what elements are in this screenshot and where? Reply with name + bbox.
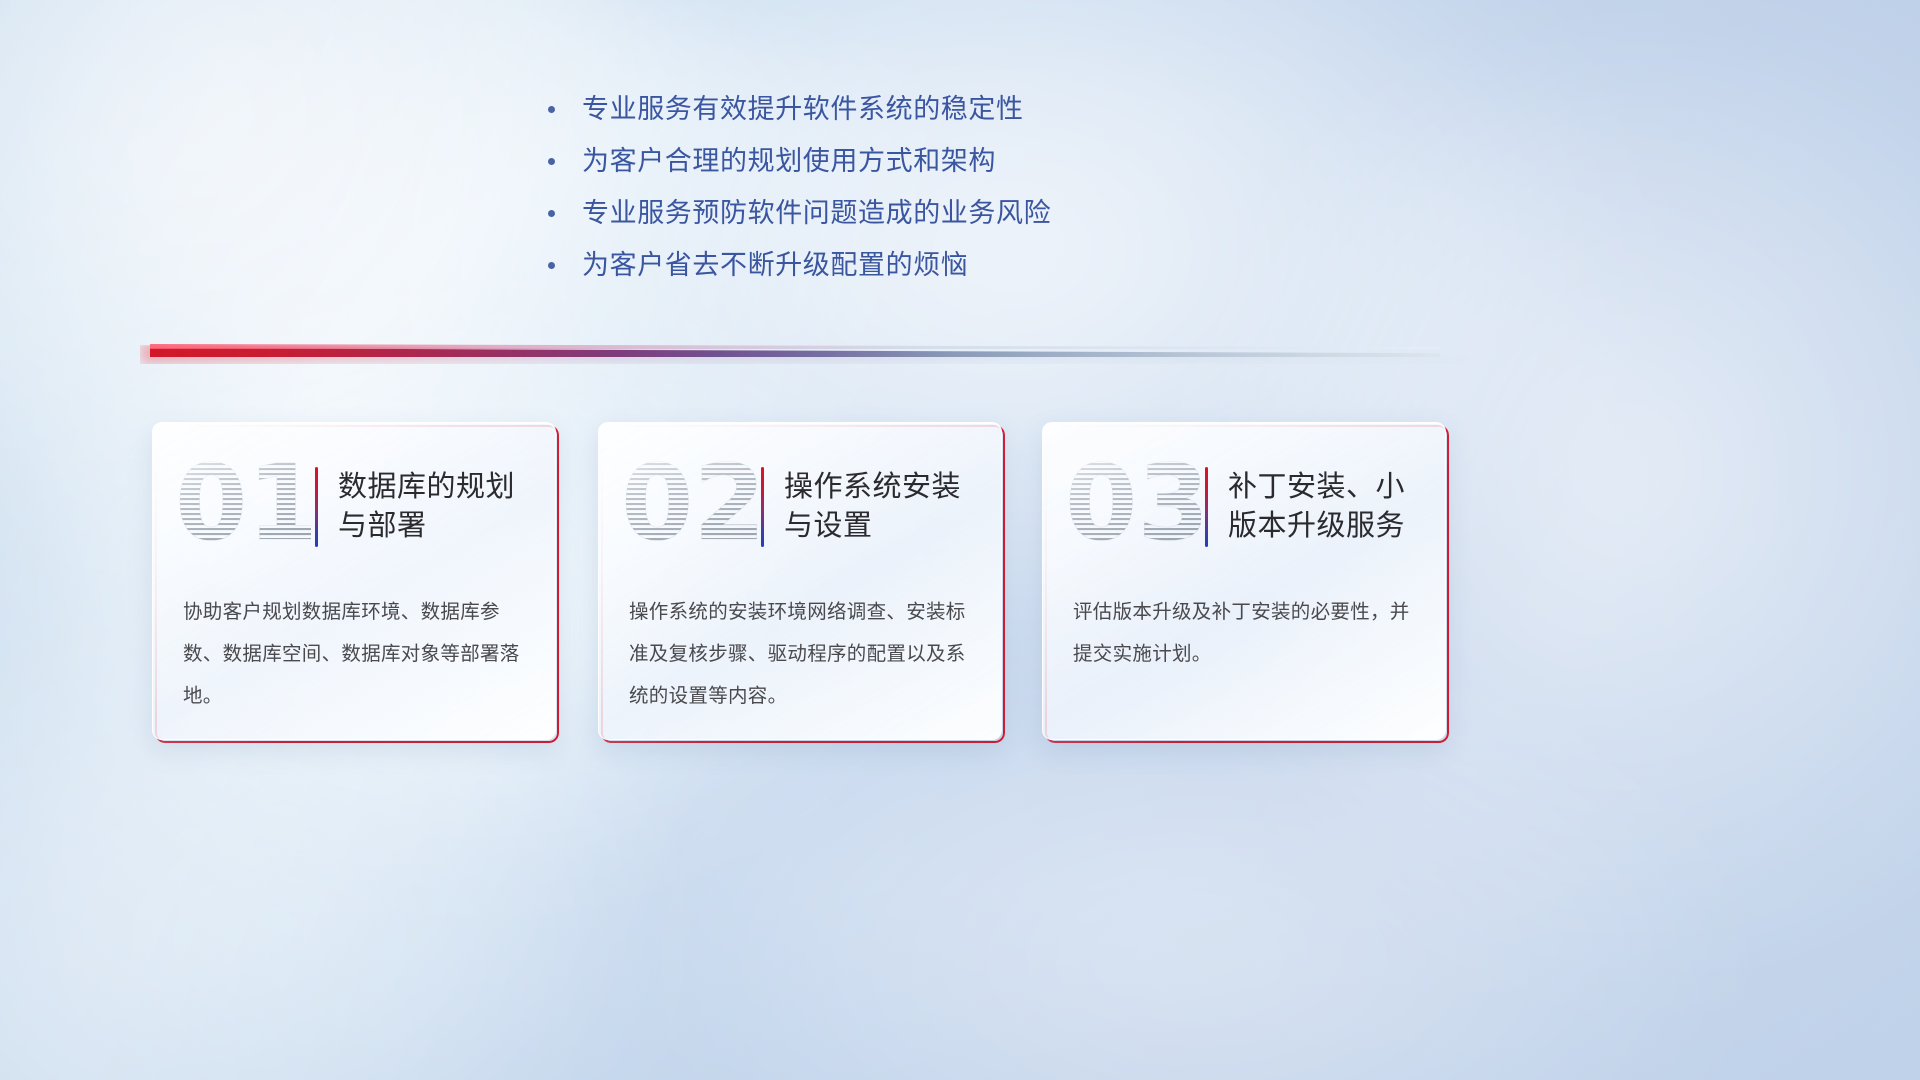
card-accent-divider [1205, 467, 1208, 547]
card-header: 03 03 补丁安装、小 版本升级服务 [1043, 447, 1445, 567]
service-card[interactable]: 01 01 数据库的规划 与部署 协助客户规划数据库环境、数据库参数、数据库空间… [152, 422, 556, 740]
card-title-line1: 操作系统安装 [784, 471, 961, 503]
card-title-line1: 数据库的规划 [338, 471, 515, 503]
service-card[interactable]: 03 03 补丁安装、小 版本升级服务 评估版本升级及补丁安装的必要性，并提交实… [1042, 422, 1446, 740]
card-row: 01 01 数据库的规划 与部署 协助客户规划数据库环境、数据库参数、数据库空间… [0, 0, 1920, 1080]
card-title: 操作系统安装 与设置 [784, 468, 975, 546]
card-title-line2: 版本升级服务 [1228, 507, 1405, 546]
card-title-line1: 补丁安装、小 [1228, 471, 1405, 503]
card-header: 02 02 操作系统安装 与设置 [599, 447, 1001, 567]
card-title: 补丁安装、小 版本升级服务 [1228, 468, 1419, 546]
card-accent-divider [315, 467, 318, 547]
card-title-line2: 与部署 [338, 507, 515, 546]
svg-text:03: 03 [1065, 453, 1201, 561]
card-accent-divider [761, 467, 764, 547]
card-body-text: 操作系统的安装环境网络调查、安装标准及复核步骤、驱动程序的配置以及系统的设置等内… [629, 591, 975, 717]
card-surface: 01 01 数据库的规划 与部署 协助客户规划数据库环境、数据库参数、数据库空间… [152, 422, 556, 740]
card-title: 数据库的规划 与部署 [338, 468, 529, 546]
svg-text:01: 01 [175, 453, 311, 561]
card-number-graphic: 02 02 [617, 453, 757, 561]
card-body-text: 评估版本升级及补丁安装的必要性，并提交实施计划。 [1073, 591, 1419, 675]
card-number-graphic: 03 03 [1061, 453, 1201, 561]
service-card[interactable]: 02 02 操作系统安装 与设置 操作系统的安装环境网络调查、安装标准及复核步骤… [598, 422, 1002, 740]
card-header: 01 01 数据库的规划 与部署 [153, 447, 555, 567]
card-title-line2: 与设置 [784, 507, 961, 546]
card-surface: 03 03 补丁安装、小 版本升级服务 评估版本升级及补丁安装的必要性，并提交实… [1042, 422, 1446, 740]
card-number-graphic: 01 01 [171, 453, 311, 561]
card-body-text: 协助客户规划数据库环境、数据库参数、数据库空间、数据库对象等部署落地。 [183, 591, 529, 717]
svg-text:02: 02 [621, 453, 757, 561]
card-surface: 02 02 操作系统安装 与设置 操作系统的安装环境网络调查、安装标准及复核步骤… [598, 422, 1002, 740]
